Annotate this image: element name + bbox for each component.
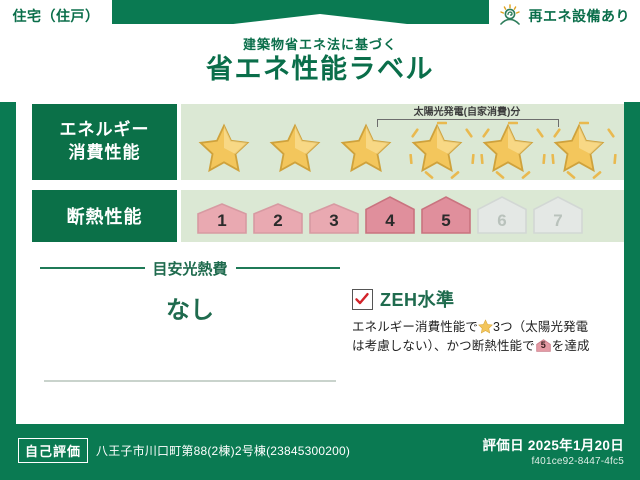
insulation-grade-2: 2 — [251, 202, 305, 235]
energy-performance-label: エネルギー 消費性能 — [32, 104, 177, 180]
star-rating — [191, 114, 612, 176]
insulation-grades-panel: 1234567 — [181, 190, 624, 242]
label-footer: 自己評価 八王子市川口町第88(2棟)2号棟(23845300200) 評価日 … — [0, 424, 640, 480]
energy-performance-row: エネルギー 消費性能 太陽光発電(自家消費)分 — [32, 104, 624, 180]
grade-number: 1 — [195, 211, 249, 231]
star-icon — [410, 122, 464, 174]
insulation-performance-label: 断熱性能 — [32, 190, 177, 242]
evaluation-date: 評価日 2025年1月20日 — [482, 434, 624, 454]
energy-stars-panel: 太陽光発電(自家消費)分 — [181, 104, 624, 180]
zeh-desc-part3: は考慮しない）、かつ断熱性能で — [352, 339, 535, 353]
title-subtitle: 建築物省エネ法に基づく — [0, 38, 640, 52]
utility-cost-heading: 目安光熱費 — [40, 260, 340, 276]
renewable-energy-badge: 再エネ設備あり — [489, 0, 640, 32]
grade-number: 3 — [307, 211, 361, 231]
grade-number: 6 — [475, 211, 529, 231]
grade-number: 4 — [363, 211, 417, 231]
insulation-grade-scale: 1234567 — [195, 195, 585, 235]
zeh-heading: ZEH水準 — [352, 286, 614, 312]
grade-number: 2 — [251, 211, 305, 231]
zeh-standard-block: ZEH水準 エネルギー消費性能で 3つ（太陽光発電 は考慮しない）、かつ断熱性能… — [352, 286, 614, 357]
star-icon — [197, 122, 251, 174]
zeh-desc-part1: エネルギー消費性能で — [352, 320, 478, 334]
record-id: f401ce92-8447-4fc5 — [482, 456, 624, 467]
cost-section-divider — [44, 380, 336, 382]
utility-cost-title: 目安光熱費 — [153, 258, 228, 279]
star-filled — [333, 114, 399, 176]
insulation-grade-7: 7 — [531, 195, 585, 235]
property-address: 八王子市川口町第88(2棟)2号棟(23845300200) — [96, 442, 350, 459]
insulation-label-text: 断熱性能 — [67, 203, 143, 229]
star-solar — [546, 114, 612, 176]
self-evaluation-block: 自己評価 八王子市川口町第88(2棟)2号棟(23845300200) — [18, 438, 350, 463]
renewable-badge-label: 再エネ設備あり — [529, 6, 631, 26]
grade-number: 5 — [419, 211, 473, 231]
energy-label-line1: エネルギー — [60, 119, 150, 142]
grade-number: 7 — [531, 211, 585, 231]
label-body-card: エネルギー 消費性能 太陽光発電(自家消費)分 断熱性能 1234567 — [16, 94, 624, 424]
self-evaluation-badge: 自己評価 — [18, 438, 88, 463]
star-solar — [475, 114, 541, 176]
insulation-performance-row: 断熱性能 1234567 — [32, 190, 624, 242]
inline-house-grade-icon: 5 — [535, 338, 552, 353]
insulation-grade-3: 3 — [307, 202, 361, 235]
insulation-grade-6: 6 — [475, 195, 529, 235]
insulation-grade-1: 1 — [195, 202, 249, 235]
star-filled — [191, 114, 257, 176]
utility-cost-value: なし — [40, 290, 340, 325]
star-icon — [268, 122, 322, 174]
building-type-label: 住宅（住戸） — [13, 6, 100, 26]
zeh-checkbox[interactable] — [352, 289, 373, 310]
zeh-desc-part2: 3つ（太陽光発電 — [493, 320, 588, 334]
star-solar — [404, 114, 470, 176]
insulation-grade-4: 4 — [363, 195, 417, 235]
star-icon — [481, 122, 535, 174]
inline-star-icon — [478, 319, 493, 334]
inline-house-grade-number: 5 — [535, 339, 552, 353]
heading-rule-right — [236, 267, 341, 269]
star-filled — [262, 114, 328, 176]
star-icon — [552, 122, 606, 174]
page-title: 省エネ性能ラベル — [0, 53, 640, 87]
building-type-tab: 住宅（住戸） — [0, 0, 112, 32]
heading-rule-left — [40, 267, 145, 269]
energy-label-root: 住宅（住戸） 再エネ設備あり 建築物省エネ法に基づく 省エネ性能ラベル — [0, 0, 640, 480]
sun-icon — [497, 4, 523, 28]
label-title-block: 建築物省エネ法に基づく 省エネ性能ラベル — [0, 38, 640, 87]
zeh-description: エネルギー消費性能で 3つ（太陽光発電 は考慮しない）、かつ断熱性能で 5 を達… — [352, 318, 614, 357]
insulation-grade-5: 5 — [419, 195, 473, 235]
star-icon — [339, 122, 393, 174]
zeh-title: ZEH水準 — [380, 286, 455, 312]
zeh-desc-part4: を達成 — [552, 339, 590, 353]
evaluation-meta: 評価日 2025年1月20日 f401ce92-8447-4fc5 — [482, 434, 624, 467]
energy-label-line2: 消費性能 — [69, 142, 141, 165]
